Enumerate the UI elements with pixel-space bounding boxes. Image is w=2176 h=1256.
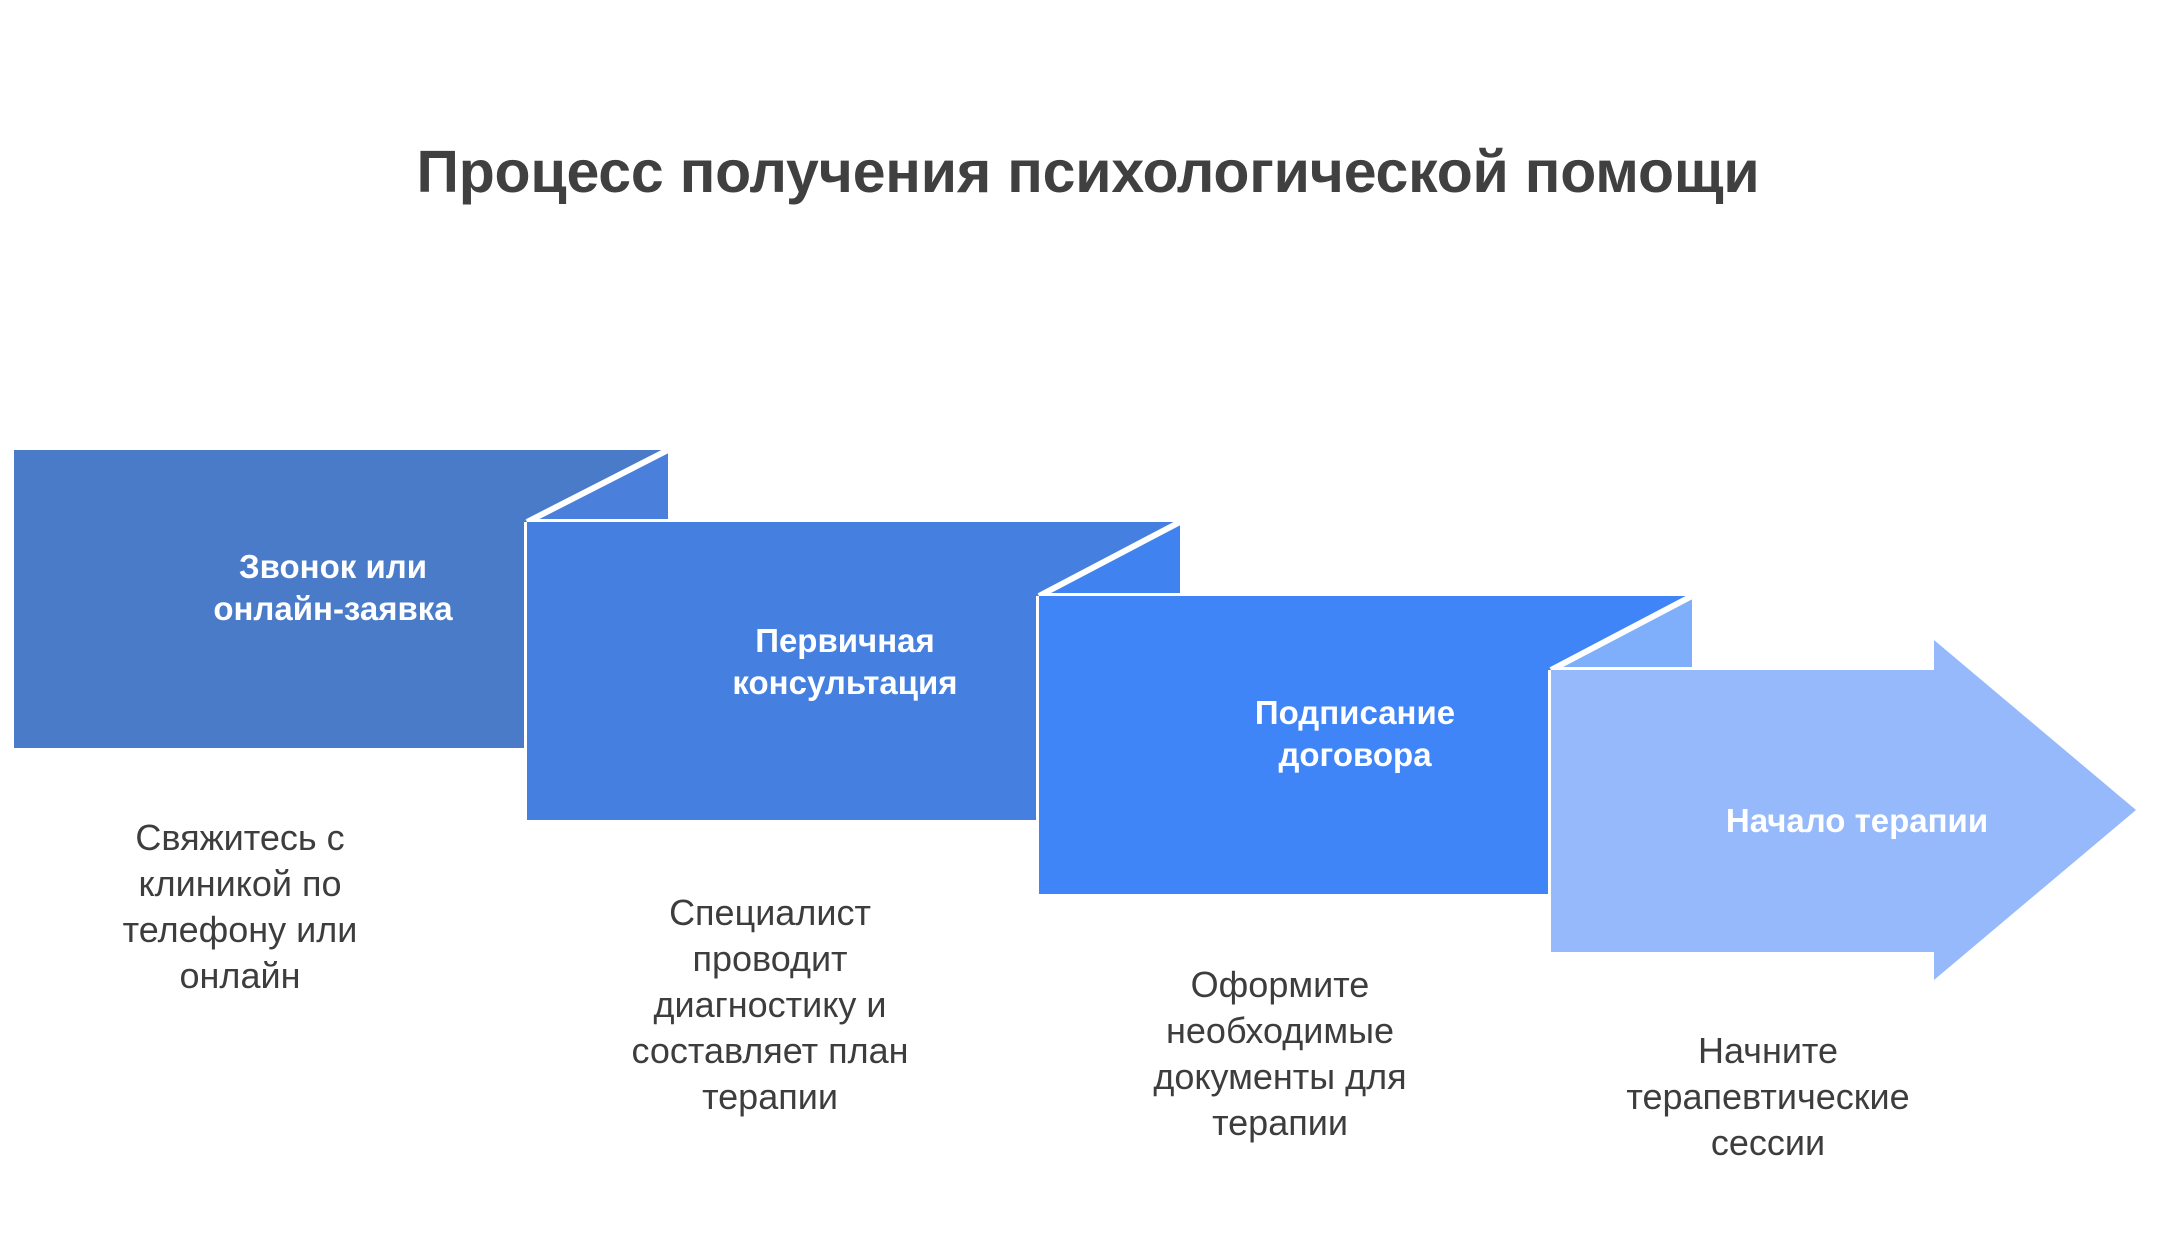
step-caption-1: Свяжитесь с клиникой по телефону или онл… bbox=[60, 815, 420, 999]
step-caption-4: Начните терапевтические сессии bbox=[1558, 1028, 1978, 1166]
step-fold-3 bbox=[1555, 596, 1692, 670]
step-divider-3 bbox=[1551, 596, 1692, 670]
step-label-3: Подписание договора bbox=[1040, 692, 1670, 776]
page-title: Процесс получения психологической помощи bbox=[0, 140, 2176, 205]
step-caption-2: Специалист проводит диагностику и состав… bbox=[570, 890, 970, 1120]
step-label-4: Начало терапии bbox=[1552, 800, 2162, 842]
step-label-1: Звонок или онлайн-заявка bbox=[18, 546, 648, 630]
step-divider-2 bbox=[1039, 522, 1180, 596]
step-fold-1 bbox=[531, 450, 668, 522]
step-fold-2 bbox=[1043, 522, 1180, 596]
step-divider-1 bbox=[527, 450, 668, 522]
step-caption-3: Оформите необходимые документы для терап… bbox=[1080, 962, 1480, 1146]
slide-canvas: Процесс получения психологической помощи bbox=[0, 0, 2176, 1256]
